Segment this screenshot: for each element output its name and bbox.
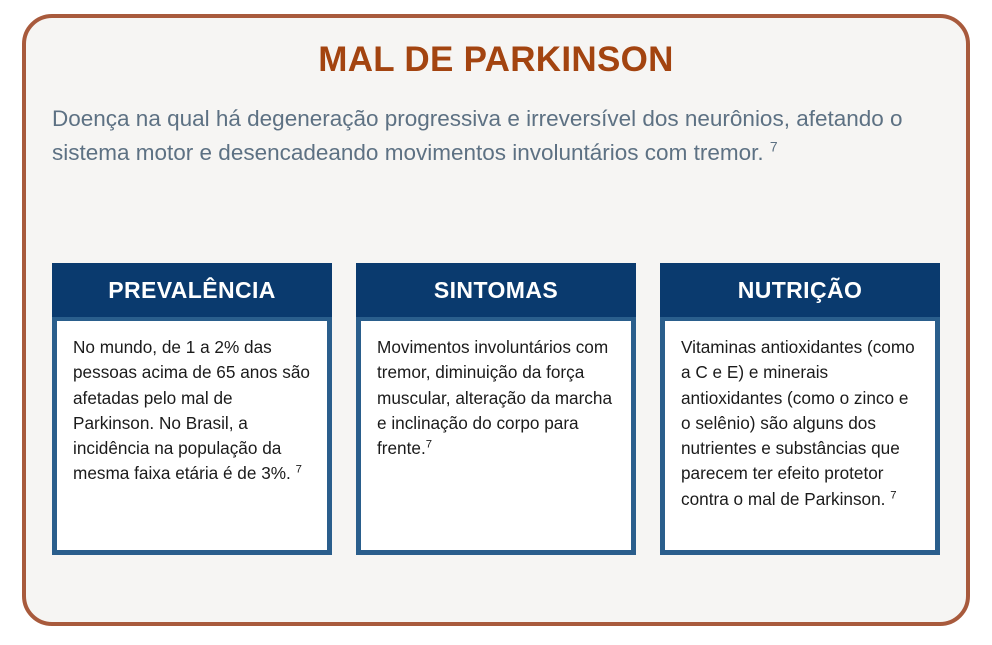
panel-header-sintomas: SINTOMAS xyxy=(356,263,636,317)
card-intro-footnote-marker: 7 xyxy=(770,139,778,155)
panel-footnote-marker-prevalencia: 7 xyxy=(296,464,302,476)
panel-body-text-prevalencia: No mundo, de 1 a 2% das pessoas acima de… xyxy=(73,337,310,483)
panel-nutricao: NUTRIÇÃO Vitaminas antioxidantes (como a… xyxy=(660,263,940,555)
panel-body-text-nutricao: Vitaminas antioxidantes (como a C e E) e… xyxy=(681,337,915,509)
card-intro-text: Doença na qual há degeneração progressiv… xyxy=(26,80,966,170)
page-title: MAL DE PARKINSON xyxy=(26,18,966,80)
panel-body-text-sintomas: Movimentos involuntários com tremor, dim… xyxy=(377,337,612,458)
panel-prevalencia: PREVALÊNCIA No mundo, de 1 a 2% das pess… xyxy=(52,263,332,555)
panel-header-prevalencia: PREVALÊNCIA xyxy=(52,263,332,317)
panel-sintomas: SINTOMAS Movimentos involuntários com tr… xyxy=(356,263,636,555)
panels-row: PREVALÊNCIA No mundo, de 1 a 2% das pess… xyxy=(52,263,940,555)
card-intro-body: Doença na qual há degeneração progressiv… xyxy=(52,106,903,165)
panel-body-prevalencia: No mundo, de 1 a 2% das pessoas acima de… xyxy=(52,317,332,555)
panel-header-nutricao: NUTRIÇÃO xyxy=(660,263,940,317)
panel-body-nutricao: Vitaminas antioxidantes (como a C e E) e… xyxy=(660,317,940,555)
infographic-card: MAL DE PARKINSON Doença na qual há degen… xyxy=(22,14,970,626)
panel-body-sintomas: Movimentos involuntários com tremor, dim… xyxy=(356,317,636,555)
panel-footnote-marker-sintomas: 7 xyxy=(426,438,432,450)
panel-footnote-marker-nutricao: 7 xyxy=(890,489,896,501)
